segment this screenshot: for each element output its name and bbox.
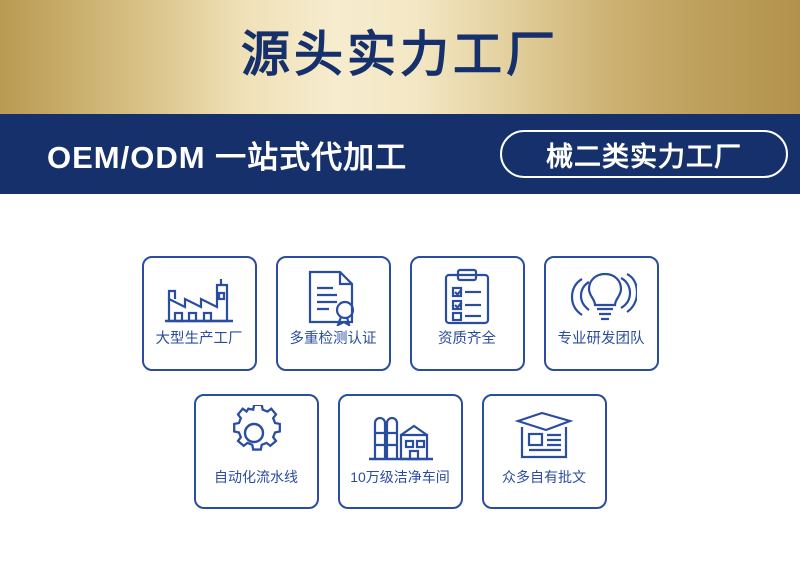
feature-card-approvals[interactable]: 众多自有批文 bbox=[482, 394, 607, 509]
promo-banner-page: 源头实力工厂 OEM/ODM 一站式代加工 械二类实力工厂 bbox=[0, 0, 800, 561]
clipboard-checklist-icon bbox=[412, 258, 523, 332]
documents-icon bbox=[484, 396, 605, 470]
oem-odm-label: OEM/ODM 一站式代加工 bbox=[47, 132, 407, 177]
feature-card-factory[interactable]: 大型生产工厂 bbox=[142, 256, 257, 371]
feature-card-label: 专业研发团队 bbox=[558, 332, 645, 347]
feature-card-certificate[interactable]: 多重检测认证 bbox=[276, 256, 391, 371]
gold-header-banner: 源头实力工厂 bbox=[0, 0, 800, 114]
lightbulb-team-icon bbox=[546, 258, 657, 332]
feature-card-label: 多重检测认证 bbox=[290, 332, 377, 347]
feature-card-label: 众多自有批文 bbox=[502, 470, 586, 484]
feature-card-label: 大型生产工厂 bbox=[156, 332, 243, 347]
factory-badge-pill: 械二类实力工厂 bbox=[500, 130, 788, 178]
feature-card-label: 自动化流水线 bbox=[214, 470, 298, 484]
feature-row-1: 大型生产工厂 多重检测认证 bbox=[0, 256, 800, 371]
page-title: 源头实力工厂 bbox=[241, 31, 559, 84]
gear-icon bbox=[196, 396, 317, 470]
feature-card-label: 10万级洁净车间 bbox=[350, 470, 450, 484]
feature-card-qualifications[interactable]: 资质齐全 bbox=[410, 256, 525, 371]
certificate-icon bbox=[278, 258, 389, 332]
factory-icon bbox=[144, 258, 255, 332]
feature-card-cleanroom[interactable]: 10万级洁净车间 bbox=[338, 394, 463, 509]
feature-cards-area: 大型生产工厂 多重检测认证 bbox=[0, 194, 800, 561]
cleanroom-tank-icon bbox=[340, 396, 461, 470]
feature-row-2: 自动化流水线 10万级洁净车间 bbox=[0, 394, 800, 509]
feature-card-rd-team[interactable]: 专业研发团队 bbox=[544, 256, 659, 371]
factory-badge-label: 械二类实力工厂 bbox=[546, 135, 742, 174]
feature-card-label: 资质齐全 bbox=[438, 332, 496, 347]
feature-card-automation-line[interactable]: 自动化流水线 bbox=[194, 394, 319, 509]
